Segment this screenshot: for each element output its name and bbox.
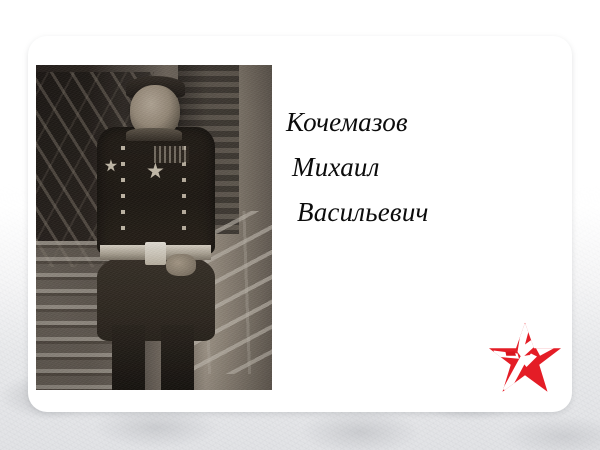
star-ribbon-cutouts: [494, 324, 560, 392]
red-star-icon: [487, 322, 563, 394]
photo-vignette: [36, 65, 272, 390]
soldier-photo[interactable]: [36, 65, 272, 390]
soldier-patronymic: Васильевич: [286, 190, 526, 235]
victory-star-emblem[interactable]: [487, 322, 563, 394]
soldier-name-block: Кочемазов Михаил Васильевич: [286, 100, 526, 235]
slide-canvas: Кочемазов Михаил Васильевич: [0, 0, 600, 450]
soldier-surname: Кочемазов: [286, 100, 526, 145]
soldier-first-name: Михаил: [286, 145, 526, 190]
